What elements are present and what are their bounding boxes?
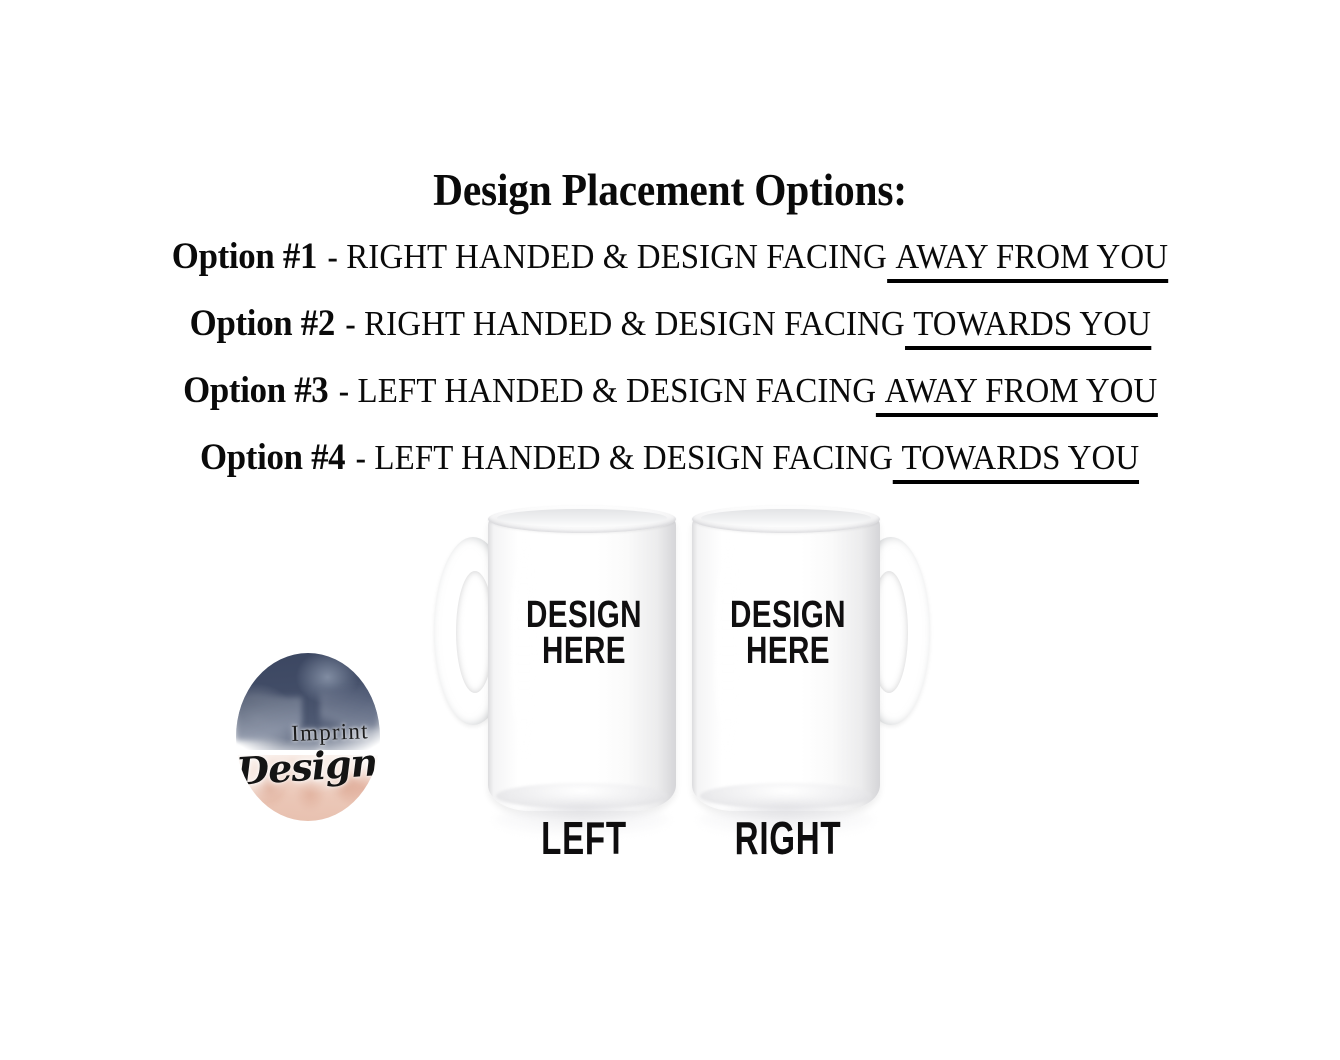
mug-left[interactable]: DESIGN HERE LEFT	[432, 505, 672, 835]
option-emphasis: AWAY FROM YOU	[876, 373, 1157, 417]
option-dash: -	[317, 240, 346, 277]
option-description: LEFT HANDED & DESIGN FACING	[357, 373, 876, 410]
mug-caption-right: RIGHT	[720, 811, 855, 865]
mug-design-text: DESIGN HERE	[715, 597, 862, 670]
page-title: Design Placement Options:	[54, 168, 1287, 213]
mug-rim	[692, 505, 880, 533]
option-label: Option #2	[189, 305, 334, 344]
option-description: RIGHT HANDED & DESIGN FACING	[346, 239, 887, 276]
option-label: Option #4	[200, 439, 345, 478]
option-label: Option #1	[172, 238, 317, 277]
mug-mockup-area: DESIGN HERE LEFT DESIGN HERE RIGHT	[0, 0, 1340, 1060]
option-emphasis: TOWARDS YOU	[904, 306, 1150, 350]
brand-logo: Imprint Designs	[236, 653, 380, 821]
mug-right[interactable]: DESIGN HERE RIGHT	[692, 505, 932, 835]
option-emphasis: AWAY FROM YOU	[887, 239, 1168, 283]
mug-rim	[488, 505, 676, 533]
option-row: Option #3 - LEFT HANDED & DESIGN FACING …	[0, 372, 1340, 439]
option-row: Option #2 - RIGHT HANDED & DESIGN FACING…	[0, 305, 1340, 372]
mug-caption-left: LEFT	[516, 811, 651, 865]
option-row: Option #4 - LEFT HANDED & DESIGN FACING …	[0, 439, 1340, 506]
option-dash: -	[335, 307, 364, 344]
option-list: Option #1 - RIGHT HANDED & DESIGN FACING…	[0, 238, 1340, 506]
mug-design-line2: HERE	[511, 633, 658, 669]
option-label: Option #3	[183, 372, 328, 411]
mug-rim-inner	[497, 509, 667, 527]
option-description: LEFT HANDED & DESIGN FACING	[375, 440, 894, 477]
option-dash: -	[328, 374, 357, 411]
option-description: RIGHT HANDED & DESIGN FACING	[364, 306, 905, 343]
logo-text-designs: Designs	[236, 739, 380, 794]
mug-design-text: DESIGN HERE	[511, 597, 658, 670]
option-emphasis: TOWARDS YOU	[893, 440, 1139, 484]
mug-design-line2: HERE	[715, 633, 862, 669]
mug-rim-inner	[701, 509, 871, 527]
logo-circle: Imprint Designs	[236, 653, 380, 821]
option-dash: -	[346, 441, 375, 478]
option-row: Option #1 - RIGHT HANDED & DESIGN FACING…	[0, 238, 1340, 305]
